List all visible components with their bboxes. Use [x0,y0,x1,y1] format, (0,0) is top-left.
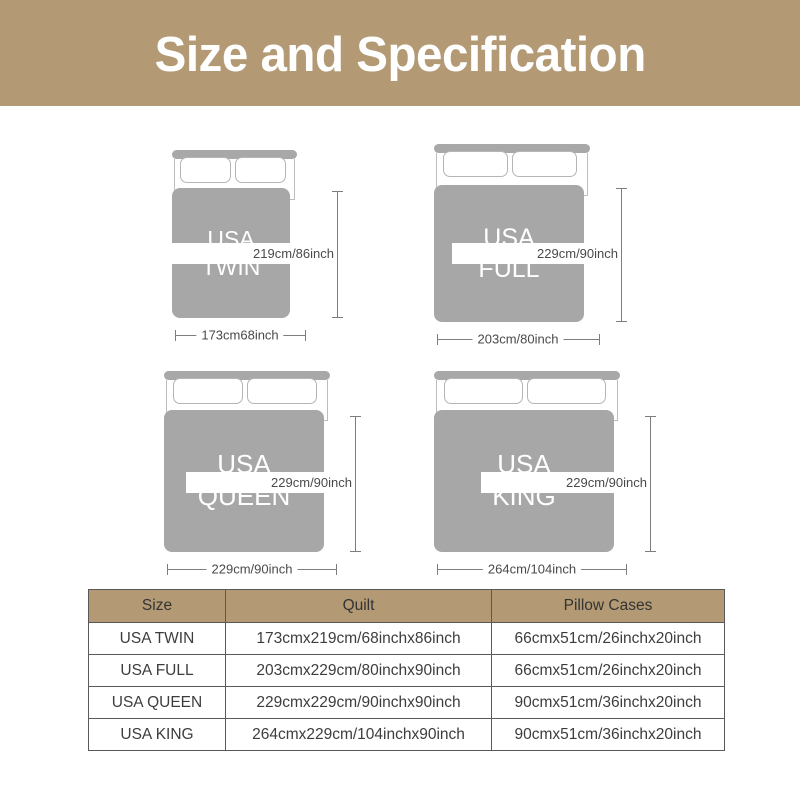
header-banner: Size and Specification [0,0,800,106]
bed-diagram-usa-queen: USA QUEEN 229cm/90inch 229cm/90inch [164,371,414,571]
dimension-cap-right [305,330,306,341]
dimension-label-height: 219cm/86inch [168,243,334,264]
bed-diagram-usa-twin: USA TWIN 219cm/86inch 173cm68inch [172,150,402,350]
cell-size: USA KING [89,719,226,751]
dimension-cap-left [167,564,168,575]
dimension-cap-top [332,191,343,192]
dimension-cap-bottom [332,317,343,318]
dimension-cap-right [626,564,627,575]
pillow-left [443,151,508,177]
dimension-cap-left [437,564,438,575]
specification-table: Size Quilt Pillow Cases USA TWIN 173cmx2… [88,589,724,751]
dimension-label-width: 229cm/90inch [207,563,298,576]
pillow-right [235,157,286,183]
dimension-label-width: 173cm68inch [196,329,283,342]
dimension-label-width: 203cm/80inch [473,333,564,346]
pillow-right [527,378,606,404]
cell-pillow: 90cmx51cm/36inchx20inch [492,719,725,751]
dimension-cap-top [616,188,627,189]
pillow-right [247,378,317,404]
dimension-cap-bottom [616,321,627,322]
dimension-cap-bottom [350,551,361,552]
dimension-line-vertical [355,416,356,552]
dimension-cap-top [645,416,656,417]
pillow-right [512,151,577,177]
column-header-quilt: Quilt [226,590,492,623]
cell-quilt: 203cmx229cm/80inchx90inch [226,655,492,687]
dimension-cap-bottom [645,551,656,552]
dimension-line-vertical [337,191,338,318]
cell-pillow: 66cmx51cm/26inchx20inch [492,623,725,655]
table-row: USA TWIN 173cmx219cm/68inchx86inch 66cmx… [89,623,725,655]
cell-size: USA FULL [89,655,226,687]
cell-pillow: 66cmx51cm/26inchx20inch [492,655,725,687]
cell-quilt: 229cmx229cm/90inchx90inch [226,687,492,719]
table-row: USA FULL 203cmx229cm/80inchx90inch 66cmx… [89,655,725,687]
pillow-left [180,157,231,183]
cell-quilt: 264cmx229cm/104inchx90inch [226,719,492,751]
dimension-label-width: 264cm/104inch [483,563,581,576]
pillow-left [444,378,523,404]
cell-size: USA QUEEN [89,687,226,719]
dimension-cap-right [336,564,337,575]
dimension-line-vertical [650,416,651,552]
dimension-cap-left [437,334,438,345]
cell-quilt: 173cmx219cm/68inchx86inch [226,623,492,655]
dimension-cap-top [350,416,361,417]
table-row: USA QUEEN 229cmx229cm/90inchx90inch 90cm… [89,687,725,719]
dimension-label-height: 229cm/90inch [481,472,647,493]
column-header-pillow-cases: Pillow Cases [492,590,725,623]
pillow-left [173,378,243,404]
dimension-label-height: 229cm/90inch [452,243,618,264]
bed-diagram-usa-king: USA KING 229cm/90inch 264cm/104inch [434,371,719,571]
table-header-row: Size Quilt Pillow Cases [89,590,725,623]
cell-pillow: 90cmx51cm/36inchx20inch [492,687,725,719]
dimension-line-vertical [621,188,622,322]
dimension-label-height: 229cm/90inch [186,472,352,493]
bed-diagrams-section: USA TWIN 219cm/86inch 173cm68inch USA FU… [0,106,800,576]
cell-size: USA TWIN [89,623,226,655]
dimension-cap-left [175,330,176,341]
dimension-cap-right [599,334,600,345]
column-header-size: Size [89,590,226,623]
bed-diagram-usa-full: USA FULL 229cm/90inch 203cm/80inch [434,144,704,350]
page-title: Size and Specification [154,27,645,80]
table-row: USA KING 264cmx229cm/104inchx90inch 90cm… [89,719,725,751]
